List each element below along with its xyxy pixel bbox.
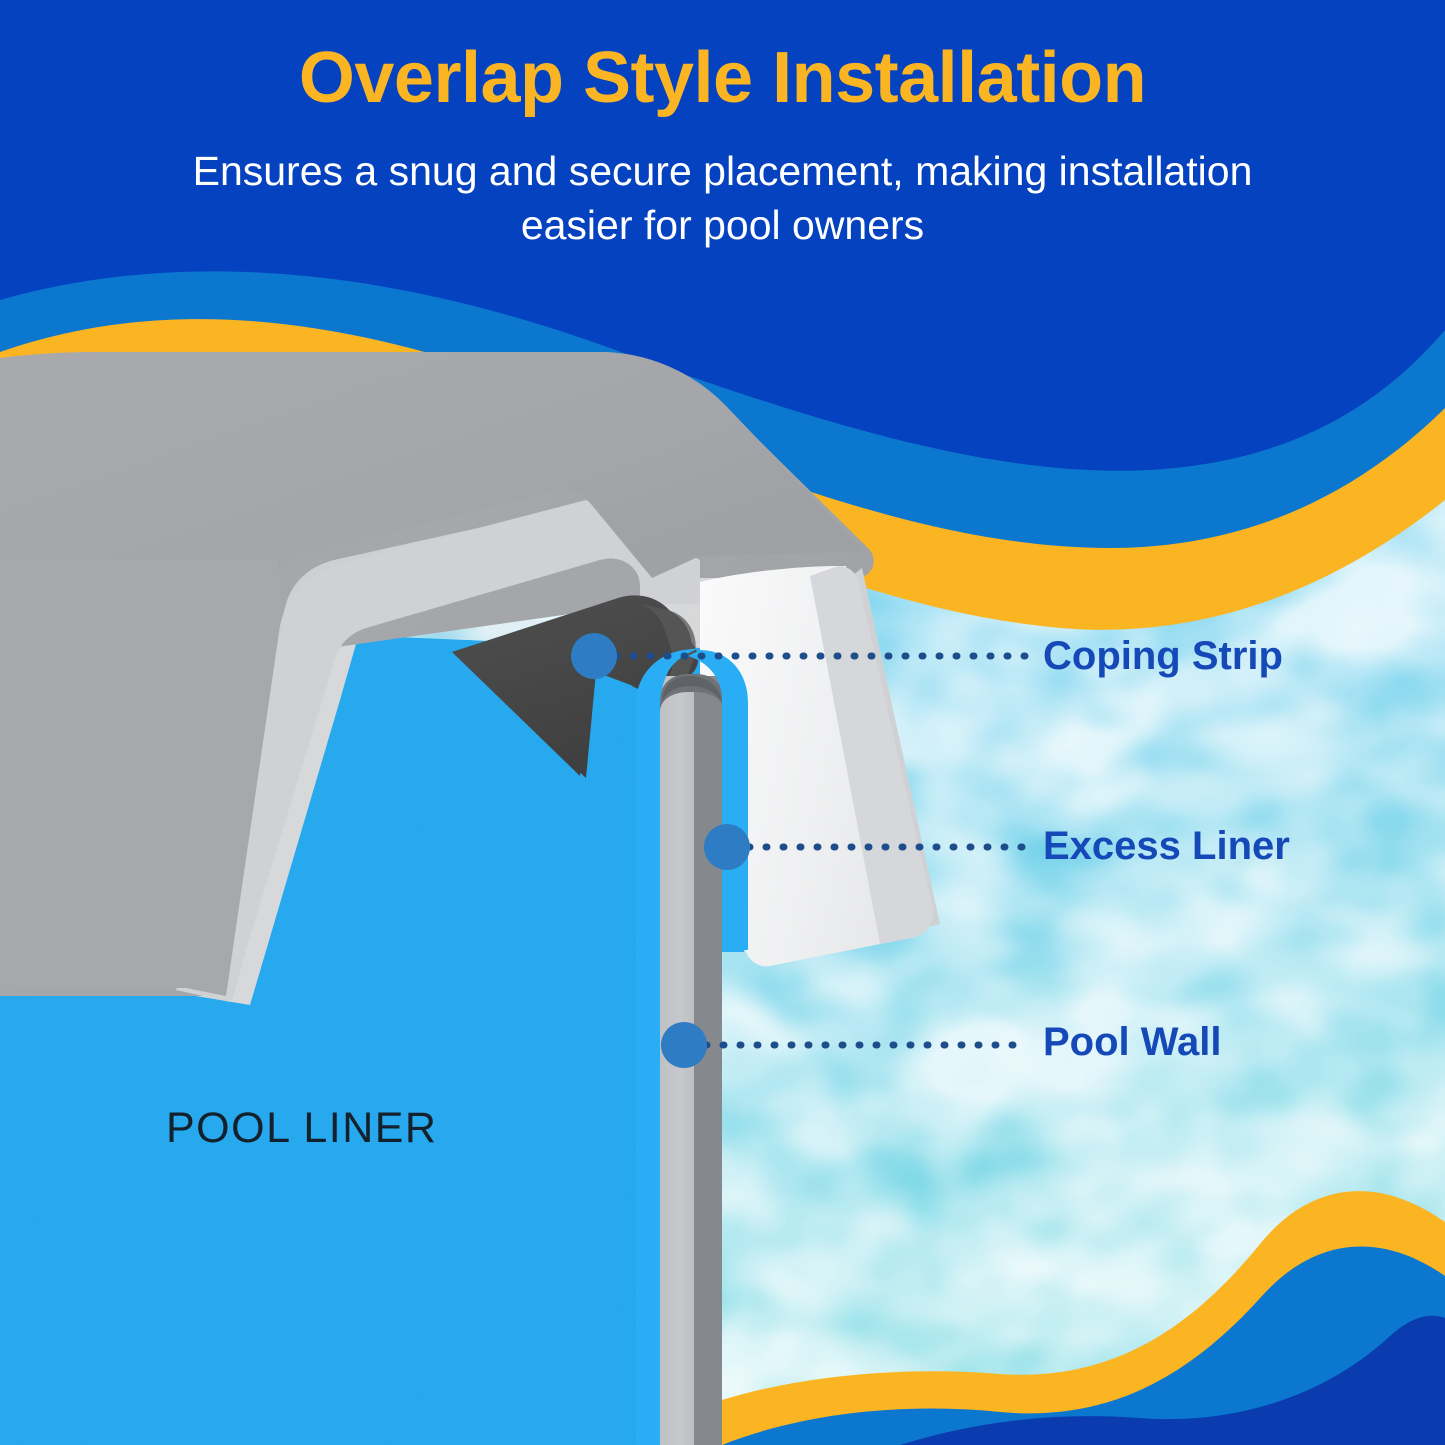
callout-label-excess-liner: Excess Liner — [1043, 824, 1290, 869]
inline-label-pool-liner: POOL LINER — [166, 1104, 438, 1153]
marker-dot-pool-wall — [661, 1022, 707, 1068]
callout-label-pool-wall: Pool Wall — [1043, 1020, 1222, 1065]
page-title: Overlap Style Installation — [0, 42, 1445, 114]
marker-dot-coping-strip — [571, 633, 617, 679]
infographic-root: Overlap Style Installation Ensures a snu… — [0, 0, 1445, 1445]
marker-dot-excess-liner — [704, 824, 750, 870]
callout-label-coping-strip: Coping Strip — [1043, 634, 1283, 679]
page-subtitle: Ensures a snug and secure placement, mak… — [183, 144, 1263, 252]
